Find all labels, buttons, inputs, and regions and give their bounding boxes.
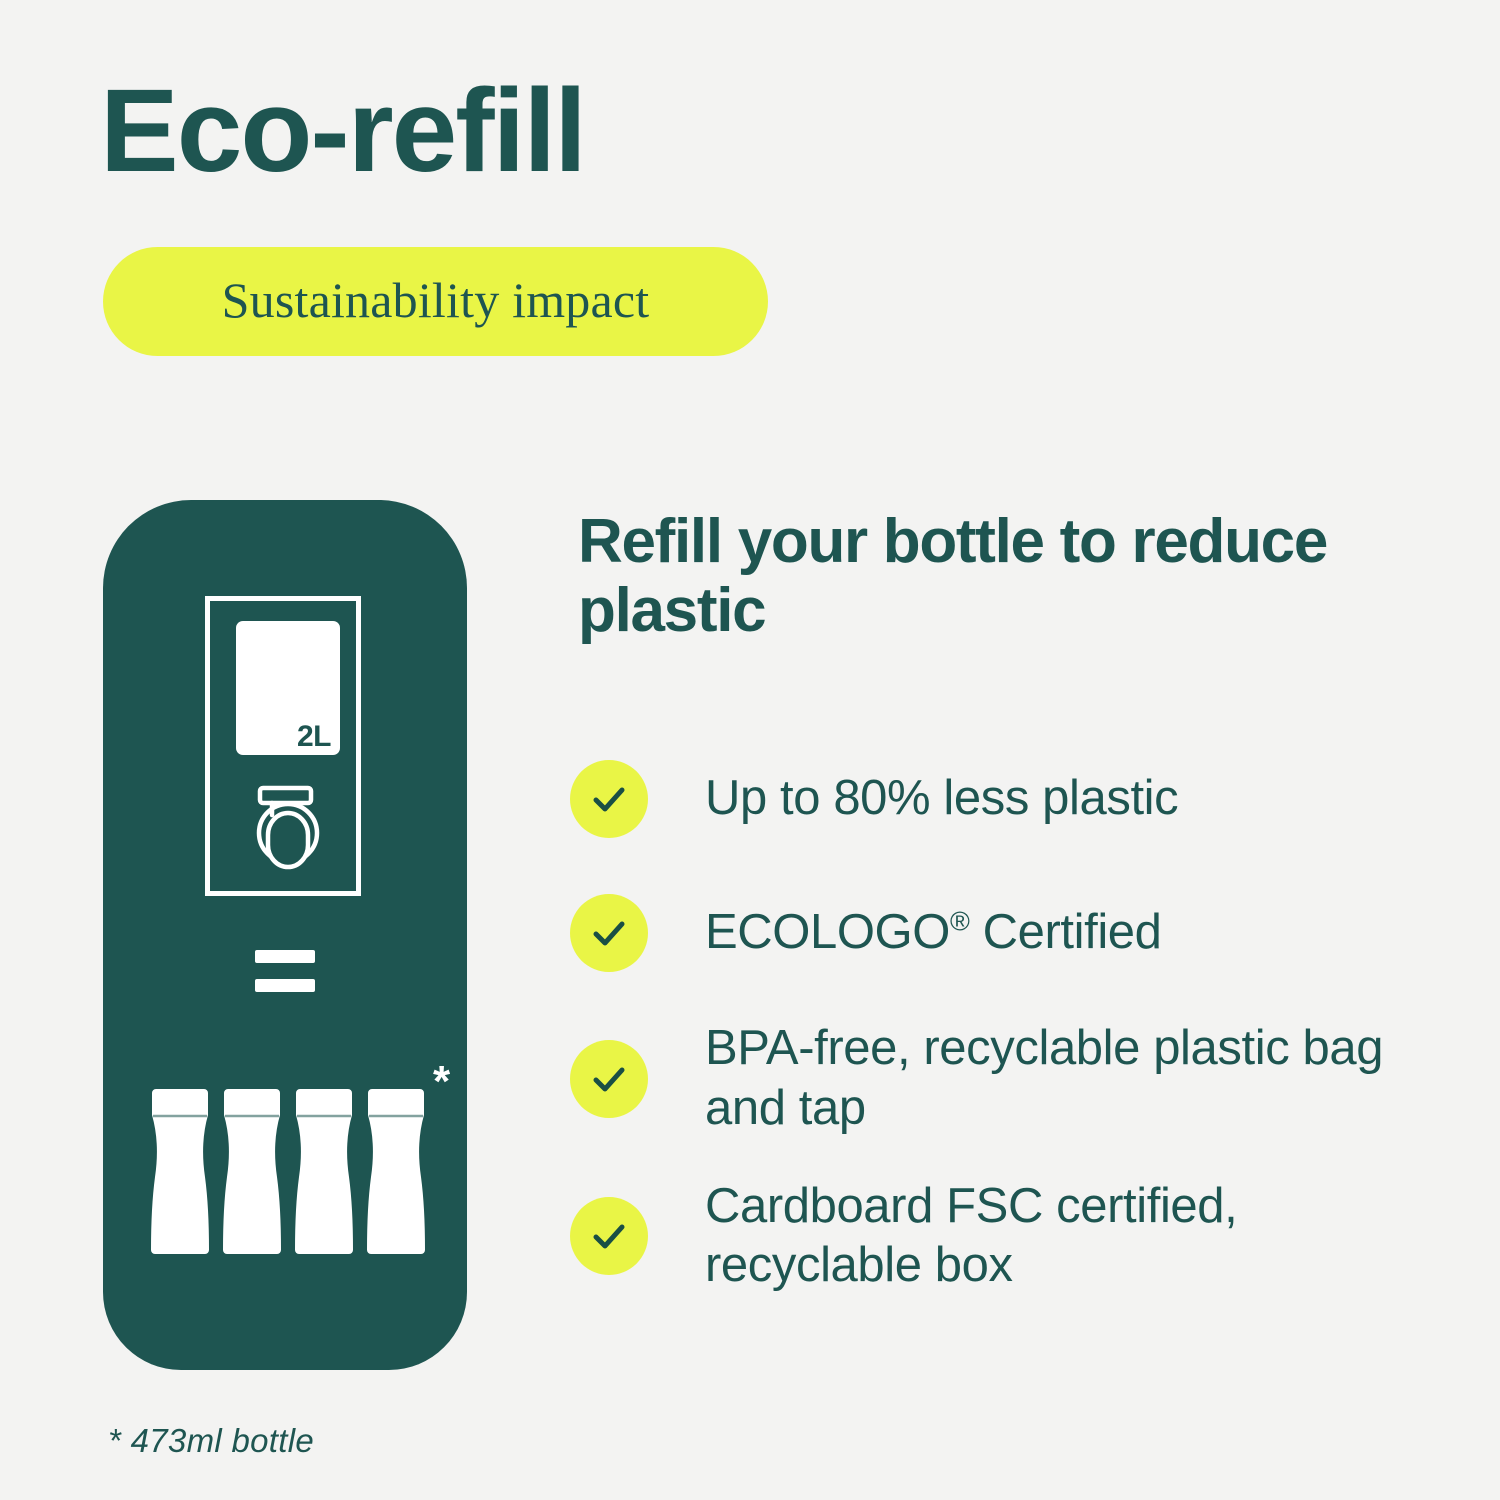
bottle-icon bbox=[150, 1085, 210, 1260]
list-item: BPA-free, recyclable plastic bag and tap bbox=[570, 1019, 1440, 1139]
page-title: Eco-refill bbox=[100, 72, 585, 190]
feature-label: Up to 80% less plastic bbox=[705, 769, 1178, 829]
bottle-icon bbox=[222, 1085, 282, 1260]
eco-refill-illustration-panel: 2L bbox=[103, 500, 467, 1370]
content-heading: Refill your bottle to reduce plastic bbox=[578, 508, 1338, 646]
check-icon bbox=[570, 1040, 648, 1118]
list-item: ECOLOGO® Certified bbox=[570, 889, 1440, 977]
refill-bag-graphic: 2L bbox=[236, 621, 340, 755]
check-icon bbox=[570, 894, 648, 972]
sustainability-impact-badge: Sustainability impact bbox=[103, 247, 768, 356]
feature-label-tail: Certified bbox=[969, 905, 1161, 959]
badge-label: Sustainability impact bbox=[222, 275, 650, 329]
feature-label-main: ECOLOGO bbox=[705, 905, 950, 959]
bottles-row bbox=[150, 1085, 434, 1260]
tap-spout-icon bbox=[252, 779, 324, 871]
registered-trademark-symbol: ® bbox=[950, 907, 969, 937]
feature-label: ECOLOGO® Certified bbox=[705, 903, 1162, 963]
bottle-icon bbox=[366, 1085, 426, 1260]
feature-list: Up to 80% less plastic ECOLOGO® Certifie… bbox=[570, 755, 1440, 1296]
refill-box-outline: 2L bbox=[205, 596, 361, 896]
list-item: Up to 80% less plastic bbox=[570, 755, 1440, 843]
equals-bar-bottom bbox=[255, 979, 315, 992]
footnote-text: * 473ml bottle bbox=[108, 1424, 314, 1457]
equals-sign-icon bbox=[255, 950, 315, 998]
check-icon bbox=[570, 1197, 648, 1275]
eco-refill-infographic: Eco-refill Sustainability impact 2L bbox=[0, 0, 1500, 1500]
feature-label: BPA-free, recyclable plastic bag and tap bbox=[705, 1019, 1440, 1139]
feature-label: Cardboard FSC certified, recyclable box bbox=[705, 1177, 1440, 1297]
bottle-icon bbox=[294, 1085, 354, 1260]
bag-volume-label: 2L bbox=[297, 722, 331, 752]
check-icon bbox=[570, 760, 648, 838]
footnote-asterisk-marker: * bbox=[433, 1060, 450, 1104]
list-item: Cardboard FSC certified, recyclable box bbox=[570, 1177, 1440, 1297]
equals-bar-top bbox=[255, 950, 315, 963]
